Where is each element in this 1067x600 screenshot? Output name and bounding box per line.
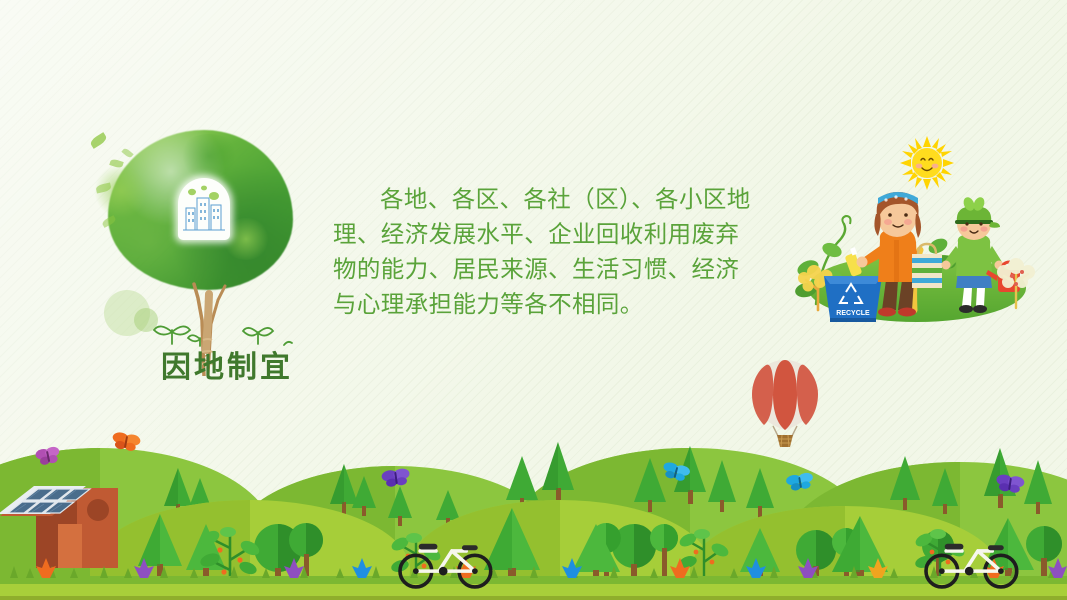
- watercolor-tree-illustration: [82, 122, 317, 352]
- section-title: 因地制宜: [161, 342, 293, 386]
- city-skyline-icon: [178, 178, 230, 240]
- sprout-decorations: [138, 300, 298, 348]
- body-paragraph: 各地、各区、各社（区）、各小区地理、经济发展水平、企业回收利用废弃物的能力、居民…: [333, 182, 751, 322]
- recycle-bin: RECYCLE: [824, 276, 882, 322]
- recycling-family-illustration: RECYCLE: [786, 136, 1054, 326]
- floating-leaf-icon: [89, 132, 108, 149]
- tree-arch-window: [178, 178, 230, 240]
- recycle-bin-label: RECYCLE: [836, 310, 870, 317]
- floating-leaf-icon: [109, 158, 124, 169]
- landscape-illustration: [0, 420, 1067, 600]
- sun-icon: [900, 136, 954, 190]
- slide-canvas: 因地制宜 各地、各区、各社（区）、各小区地理、经济发展水平、企业回收利用废弃物的…: [0, 0, 1067, 600]
- floating-leaf-icon: [95, 183, 111, 194]
- recycling-scene-figures: RECYCLE: [786, 184, 1054, 326]
- ground-strip: [0, 584, 1067, 600]
- floating-leaf-icon: [121, 147, 133, 159]
- child-figure: [942, 196, 1004, 313]
- white-blossom-bush-icon: [997, 258, 1035, 308]
